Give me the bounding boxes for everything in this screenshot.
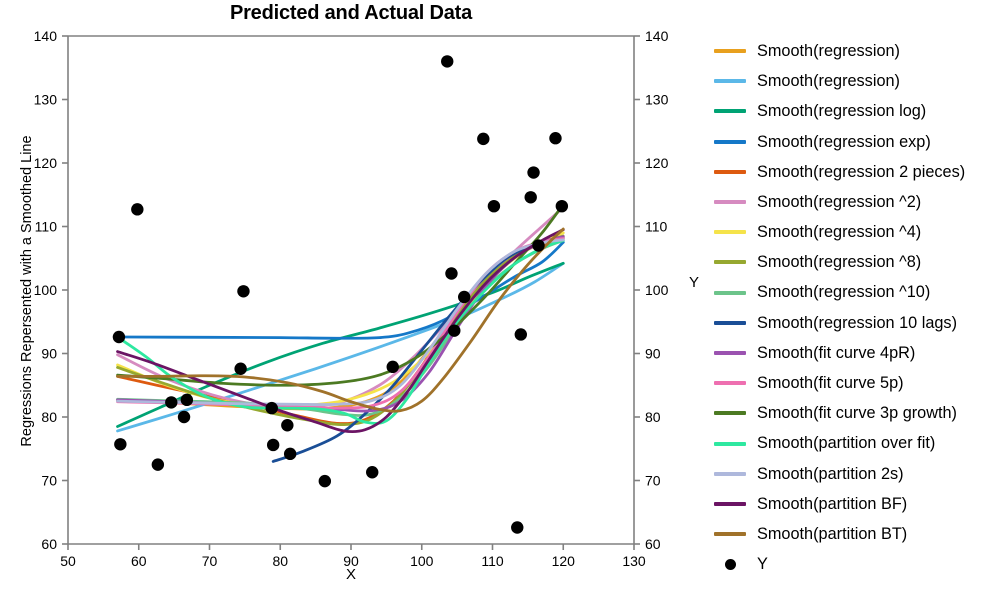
scatter-point bbox=[284, 448, 296, 460]
y-tick-label-left: 100 bbox=[34, 282, 58, 298]
y-tick-label-right: 130 bbox=[645, 92, 669, 108]
legend-color-swatch bbox=[714, 79, 746, 83]
legend-item[interactable]: Smooth(regression ^10) bbox=[712, 278, 998, 308]
legend-item[interactable]: Smooth(fit curve 3p growth) bbox=[712, 398, 998, 428]
y-tick-label-right: 140 bbox=[645, 28, 669, 44]
scatter-point bbox=[527, 166, 539, 178]
scatter-point bbox=[234, 363, 246, 375]
scatter-point bbox=[441, 55, 453, 67]
legend-item[interactable]: Smooth(regression 10 lags) bbox=[712, 308, 998, 338]
legend-item-marker[interactable]: Y bbox=[712, 549, 998, 579]
legend-color-swatch bbox=[714, 291, 746, 295]
scatter-point bbox=[281, 419, 293, 431]
legend-color-swatch bbox=[714, 411, 746, 415]
legend-item-label: Smooth(regression log) bbox=[757, 103, 926, 119]
legend-color-swatch bbox=[714, 472, 746, 476]
y-tick-label-right: 70 bbox=[645, 473, 661, 489]
y-tick-label-left: 70 bbox=[41, 473, 57, 489]
legend-color-swatch bbox=[714, 502, 746, 506]
y-tick-label-right: 80 bbox=[645, 409, 661, 425]
y-tick-label-left: 140 bbox=[34, 28, 58, 44]
legend-item[interactable]: Smooth(partition 2s) bbox=[712, 459, 998, 489]
regression-curve bbox=[118, 204, 564, 385]
chart-container: Predicted and Actual Data Regressions Re… bbox=[0, 0, 998, 590]
legend-color-swatch bbox=[714, 140, 746, 144]
legend-item-label: Smooth(regression ^2) bbox=[757, 194, 921, 210]
legend-item[interactable]: Smooth(partition BF) bbox=[712, 489, 998, 519]
legend-color-swatch bbox=[714, 260, 746, 264]
y-tick-label-left: 130 bbox=[34, 92, 58, 108]
legend-item-label: Smooth(regression ^8) bbox=[757, 254, 921, 270]
regression-curve bbox=[273, 238, 563, 462]
scatter-point bbox=[366, 466, 378, 478]
scatter-point bbox=[387, 361, 399, 373]
legend-color-swatch bbox=[714, 200, 746, 204]
y-tick-label-left: 80 bbox=[41, 409, 57, 425]
legend-marker-label: Y bbox=[757, 556, 768, 572]
scatter-point bbox=[237, 285, 249, 297]
scatter-point bbox=[458, 291, 470, 303]
legend-item-label: Smooth(fit curve 5p) bbox=[757, 375, 904, 391]
scatter-point bbox=[152, 458, 164, 470]
legend-item[interactable]: Smooth(regression ^4) bbox=[712, 217, 998, 247]
legend-item-label: Smooth(regression ^10) bbox=[757, 284, 930, 300]
legend-item[interactable]: Smooth(regression ^2) bbox=[712, 187, 998, 217]
legend-item[interactable]: Smooth(fit curve 5p) bbox=[712, 368, 998, 398]
legend-item-label: Smooth(regression 2 pieces) bbox=[757, 164, 965, 180]
legend-color-swatch bbox=[714, 109, 746, 113]
legend-dot-marker-icon bbox=[714, 559, 746, 570]
legend-item[interactable]: Smooth(partition over fit) bbox=[712, 428, 998, 458]
scatter-point bbox=[525, 191, 537, 203]
y-tick-label-right: 90 bbox=[645, 346, 661, 362]
legend-item-label: Smooth(regression ^4) bbox=[757, 224, 921, 240]
legend-item[interactable]: Smooth(regression) bbox=[712, 36, 998, 66]
scatter-point bbox=[267, 439, 279, 451]
x-tick-label: 70 bbox=[202, 553, 218, 569]
legend-item-label: Smooth(regression 10 lags) bbox=[757, 315, 957, 331]
y-tick-label-right: 110 bbox=[645, 219, 668, 235]
scatter-point bbox=[511, 521, 523, 533]
legend-color-swatch bbox=[714, 321, 746, 325]
legend-color-swatch bbox=[714, 49, 746, 53]
legend-color-swatch bbox=[714, 381, 746, 385]
scatter-point bbox=[556, 200, 568, 212]
axis-layer: 6070809010011012013014060708090100110120… bbox=[34, 28, 669, 569]
legend-color-swatch bbox=[714, 170, 746, 174]
legend-item[interactable]: Smooth(regression ^8) bbox=[712, 247, 998, 277]
x-tick-label: 60 bbox=[131, 553, 147, 569]
x-tick-label: 100 bbox=[410, 553, 434, 569]
scatter-point bbox=[113, 331, 125, 343]
legend-item[interactable]: Smooth(regression 2 pieces) bbox=[712, 157, 998, 187]
legend-color-swatch bbox=[714, 442, 746, 446]
x-tick-label: 50 bbox=[60, 553, 76, 569]
y-tick-label-left: 60 bbox=[41, 536, 57, 552]
scatter-point bbox=[445, 267, 457, 279]
legend-item-label: Smooth(fit curve 4pR) bbox=[757, 345, 915, 361]
legend-item-label: Smooth(partition BF) bbox=[757, 496, 907, 512]
legend-item-label: Smooth(partition over fit) bbox=[757, 435, 935, 451]
y-tick-label-left: 90 bbox=[41, 346, 57, 362]
scatter-point bbox=[477, 133, 489, 145]
y-tick-label-left: 120 bbox=[34, 155, 58, 171]
legend-item-label: Smooth(regression exp) bbox=[757, 134, 931, 150]
legend-item-label: Smooth(regression) bbox=[757, 73, 900, 89]
legend-item[interactable]: Smooth(fit curve 4pR) bbox=[712, 338, 998, 368]
legend-item-label: Smooth(regression) bbox=[757, 43, 900, 59]
scatter-point bbox=[532, 239, 544, 251]
legend-item-label: Smooth(partition 2s) bbox=[757, 466, 904, 482]
scatter-point bbox=[448, 324, 460, 336]
scatter-point bbox=[114, 438, 126, 450]
legend-color-swatch bbox=[714, 230, 746, 234]
scatter-point bbox=[266, 402, 278, 414]
y-tick-label-right: 60 bbox=[645, 536, 661, 552]
x-tick-label: 110 bbox=[481, 553, 504, 569]
scatter-point bbox=[178, 411, 190, 423]
scatter-point bbox=[488, 200, 500, 212]
x-tick-label: 130 bbox=[622, 553, 646, 569]
scatter-point bbox=[319, 475, 331, 487]
legend-item[interactable]: Smooth(partition BT) bbox=[712, 519, 998, 549]
legend-item[interactable]: Smooth(regression) bbox=[712, 66, 998, 96]
legend-color-swatch bbox=[714, 532, 746, 536]
x-tick-label: 90 bbox=[343, 553, 359, 569]
scatter-points-layer bbox=[113, 55, 568, 533]
scatter-point bbox=[181, 394, 193, 406]
scatter-point bbox=[131, 203, 143, 215]
scatter-point bbox=[165, 396, 177, 408]
y-tick-label-left: 110 bbox=[35, 219, 58, 235]
x-tick-label: 120 bbox=[552, 553, 576, 569]
legend-item-label: Smooth(partition BT) bbox=[757, 526, 907, 542]
scatter-point bbox=[549, 132, 561, 144]
x-tick-label: 80 bbox=[272, 553, 288, 569]
y-tick-label-right: 100 bbox=[645, 282, 669, 298]
legend-item[interactable]: Smooth(regression log) bbox=[712, 96, 998, 126]
y-tick-label-right: 120 bbox=[645, 155, 669, 171]
legend-color-swatch bbox=[714, 351, 746, 355]
legend: Smooth(regression)Smooth(regression)Smoo… bbox=[712, 36, 998, 579]
legend-item[interactable]: Smooth(regression exp) bbox=[712, 127, 998, 157]
scatter-point bbox=[515, 328, 527, 340]
legend-item-label: Smooth(fit curve 3p growth) bbox=[757, 405, 957, 421]
